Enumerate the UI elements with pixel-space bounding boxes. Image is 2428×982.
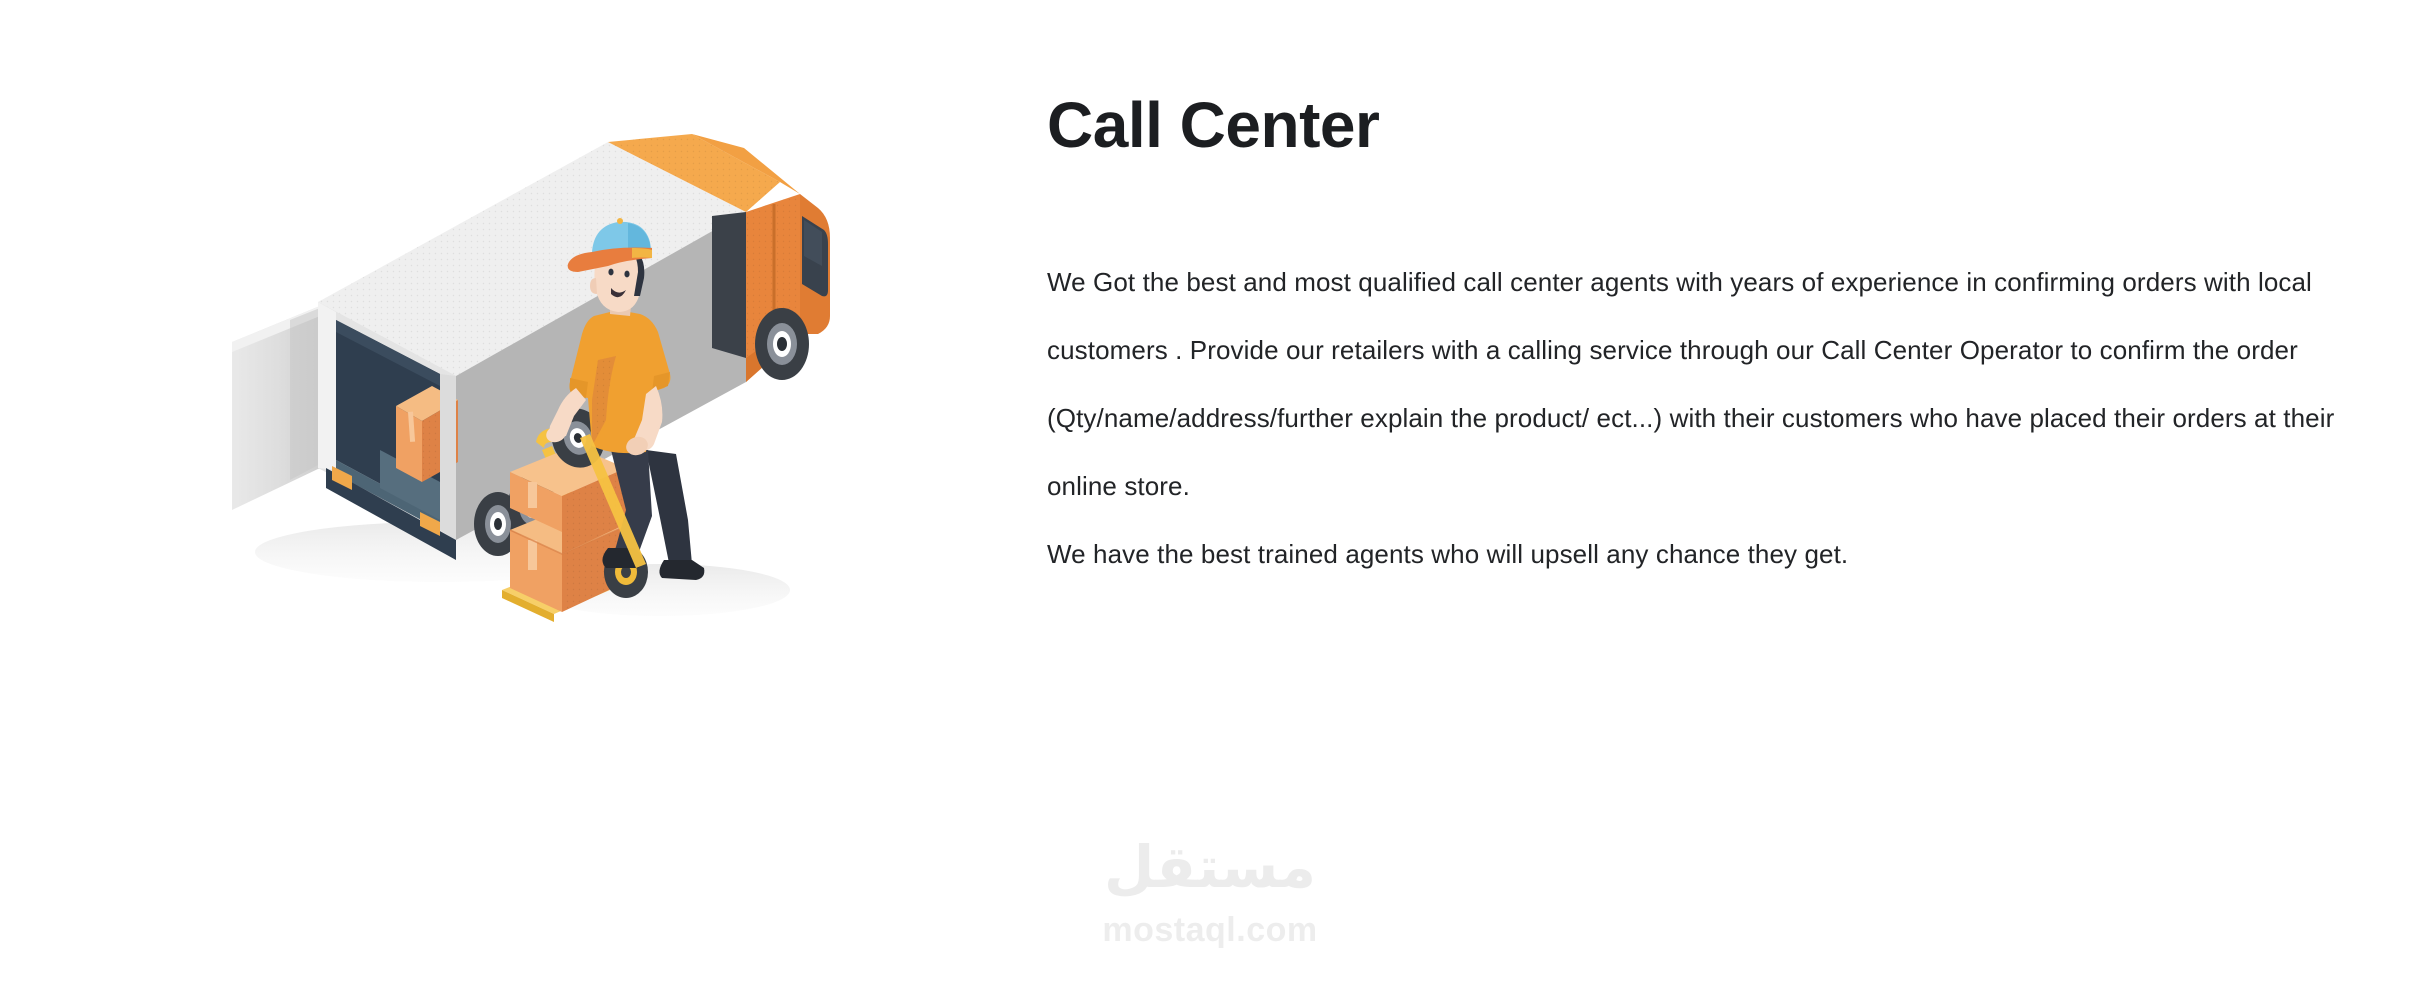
page-title: Call Center (1047, 92, 1379, 159)
body-paragraph: We Got the best and most qualified call … (1047, 248, 2377, 520)
body-paragraph: We have the best trained agents who will… (1047, 520, 2377, 588)
body-copy: We Got the best and most qualified call … (1047, 248, 2377, 588)
worker-leg-back (646, 450, 692, 568)
content-panel: Call Center We Got the best and most qua… (1047, 0, 2377, 982)
trailer-open-door (232, 306, 320, 510)
cab-wheel (755, 308, 809, 380)
delivery-truck-illustration (140, 120, 860, 680)
worker-cap-side-panel (632, 248, 652, 258)
worker-eye (624, 271, 629, 278)
page-root: Call Center We Got the best and most qua… (0, 0, 2428, 982)
illustration-panel (0, 0, 1000, 982)
worker-shoe-back (659, 560, 704, 580)
worker-eye (608, 269, 613, 276)
